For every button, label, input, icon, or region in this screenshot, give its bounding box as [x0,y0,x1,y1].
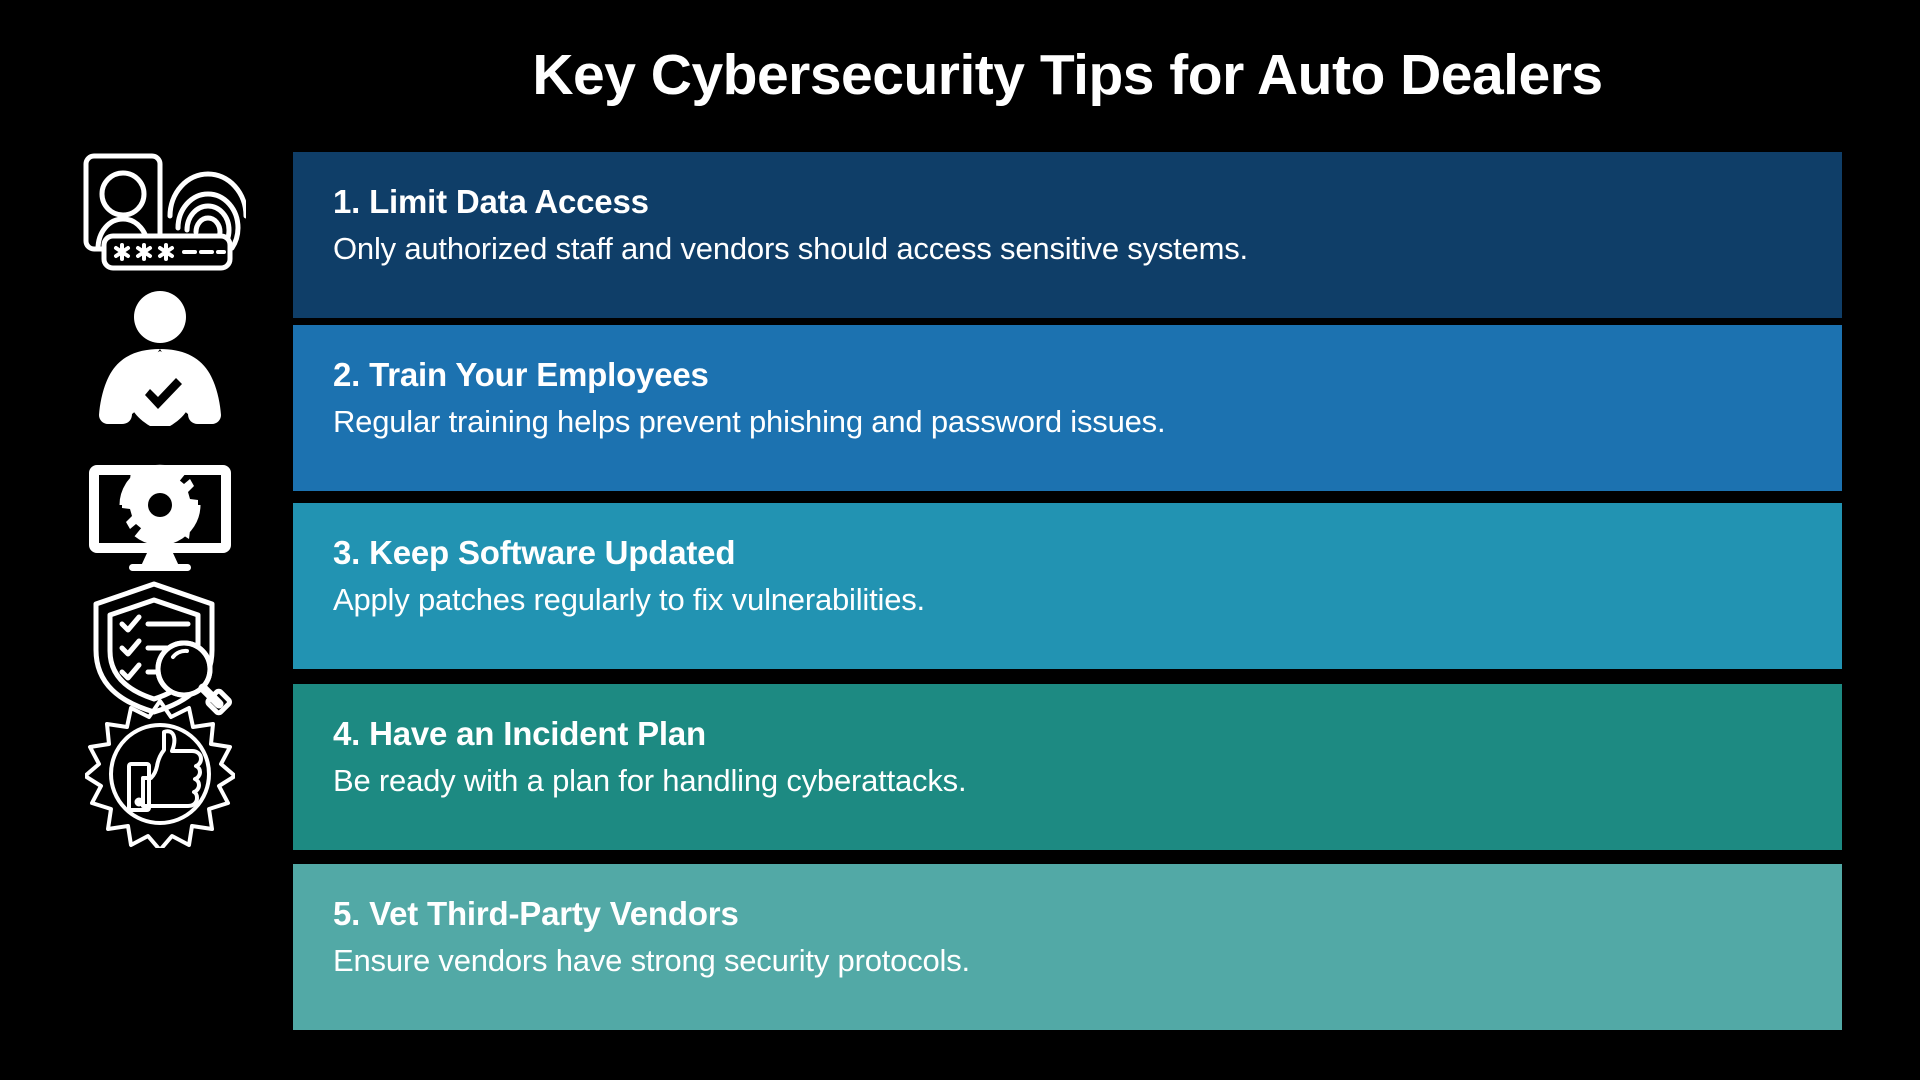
tip-row-1[interactable]: 1. Limit Data Access Only authorized sta… [293,152,1842,318]
infographic-canvas: Key Cybersecurity Tips for Auto Dealers [0,0,1920,1080]
page-title: Key Cybersecurity Tips for Auto Dealers [293,46,1842,106]
tip-row-4[interactable]: 4. Have an Incident Plan Be ready with a… [293,684,1842,850]
monitor-gear-refresh-icon [55,420,265,586]
tip-title: 3. Keep Software Updated [333,533,1842,573]
tip-description: Apply patches regularly to fix vulnerabi… [333,581,1842,618]
tip-description: Regular training helps prevent phishing … [333,403,1842,440]
tip-row-2[interactable]: 2. Train Your Employees Regular training… [293,325,1842,491]
tip-row-3[interactable]: 3. Keep Software Updated Apply patches r… [293,503,1842,669]
tip-description: Be ready with a plan for handling cybera… [333,762,1842,799]
tip-description: Ensure vendors have strong security prot… [333,942,1842,979]
tip-title: 5. Vet Third-Party Vendors [333,894,1842,934]
tip-description: Only authorized staff and vendors should… [333,230,1842,267]
tip-title: 2. Train Your Employees [333,355,1842,395]
tip-row-5[interactable]: 5. Vet Third-Party Vendors Ensure vendor… [293,864,1842,1030]
tip-title: 4. Have an Incident Plan [333,714,1842,754]
person-holding-shield-check-icon [55,275,265,441]
tip-title: 1. Limit Data Access [333,182,1842,222]
badge-thumbs-up-icon [55,690,265,856]
id-card-fingerprint-password-icon [55,132,265,298]
